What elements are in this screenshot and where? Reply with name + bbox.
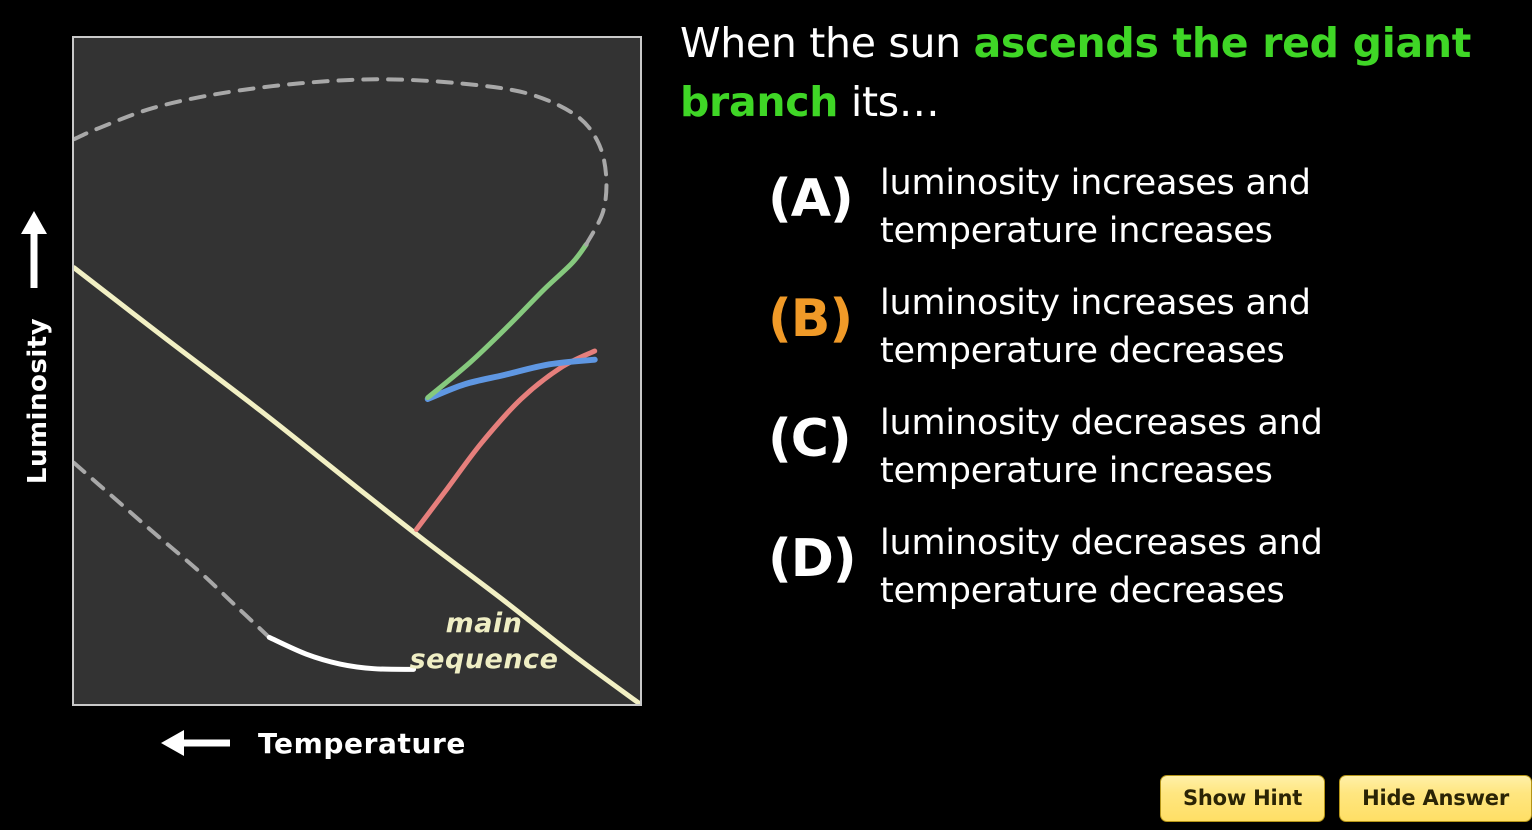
question-suffix: its… [838, 78, 939, 126]
chart-series-red-giant-branch [416, 351, 594, 529]
hr-diagram-svg [74, 38, 640, 704]
answer-option-letter: (B) [768, 280, 880, 347]
answer-option-line2: temperature increases [880, 208, 1528, 256]
answer-option-letter: (D) [768, 520, 880, 587]
answer-option-line1: luminosity increases and [880, 160, 1528, 208]
chart-series-planetary-nebula-post-agb-loop [74, 79, 606, 244]
quiz-panel: When the sun ascends the red giant branc… [660, 0, 1532, 830]
chart-series-white-dwarf-cooling-track-dashed-portion- [74, 463, 269, 637]
answer-option-text: luminosity decreases andtemperature incr… [880, 400, 1528, 495]
button-bar: Show Hint Hide Answer [1160, 775, 1532, 822]
question-prefix: When the sun [680, 19, 974, 67]
answer-option-line1: luminosity increases and [880, 280, 1528, 328]
chart-series-white-dwarf-cooling-track-solid-portion- [269, 637, 413, 669]
left-arrow-icon [160, 728, 232, 758]
y-axis-group: Luminosity [6, 210, 62, 590]
answer-option-line2: temperature increases [880, 448, 1528, 496]
show-hint-button[interactable]: Show Hint [1160, 775, 1325, 822]
answer-option-letter: (C) [768, 400, 880, 467]
answer-option-line2: temperature decreases [880, 568, 1528, 616]
answer-option-text: luminosity decreases andtemperature decr… [880, 520, 1528, 615]
question-text: When the sun ascends the red giant branc… [680, 14, 1510, 132]
answer-option-line1: luminosity decreases and [880, 520, 1528, 568]
chart-series-main-sequence [74, 268, 640, 704]
hr-diagram-plot: main sequence [72, 36, 642, 706]
answer-option-line2: temperature decreases [880, 328, 1528, 376]
answer-option-d[interactable]: (D)luminosity decreases andtemperature d… [768, 520, 1528, 620]
y-axis-label: Luminosity [23, 261, 53, 541]
answer-option-text: luminosity increases andtemperature incr… [880, 160, 1528, 255]
x-axis-group: Temperature [160, 718, 466, 768]
answer-option-line1: luminosity decreases and [880, 400, 1528, 448]
x-axis-label: Temperature [258, 727, 466, 760]
answer-option-text: luminosity increases andtemperature decr… [880, 280, 1528, 375]
hide-answer-button[interactable]: Hide Answer [1339, 775, 1532, 822]
answer-option-c[interactable]: (C)luminosity decreases andtemperature i… [768, 400, 1528, 500]
answer-options-list: (A)luminosity increases andtemperature i… [768, 160, 1528, 640]
answer-option-a[interactable]: (A)luminosity increases andtemperature i… [768, 160, 1528, 260]
answer-option-b[interactable]: (B)luminosity increases andtemperature d… [768, 280, 1528, 380]
hr-diagram-panel: main sequence Luminosity Temperature [0, 0, 660, 830]
answer-option-letter: (A) [768, 160, 880, 227]
